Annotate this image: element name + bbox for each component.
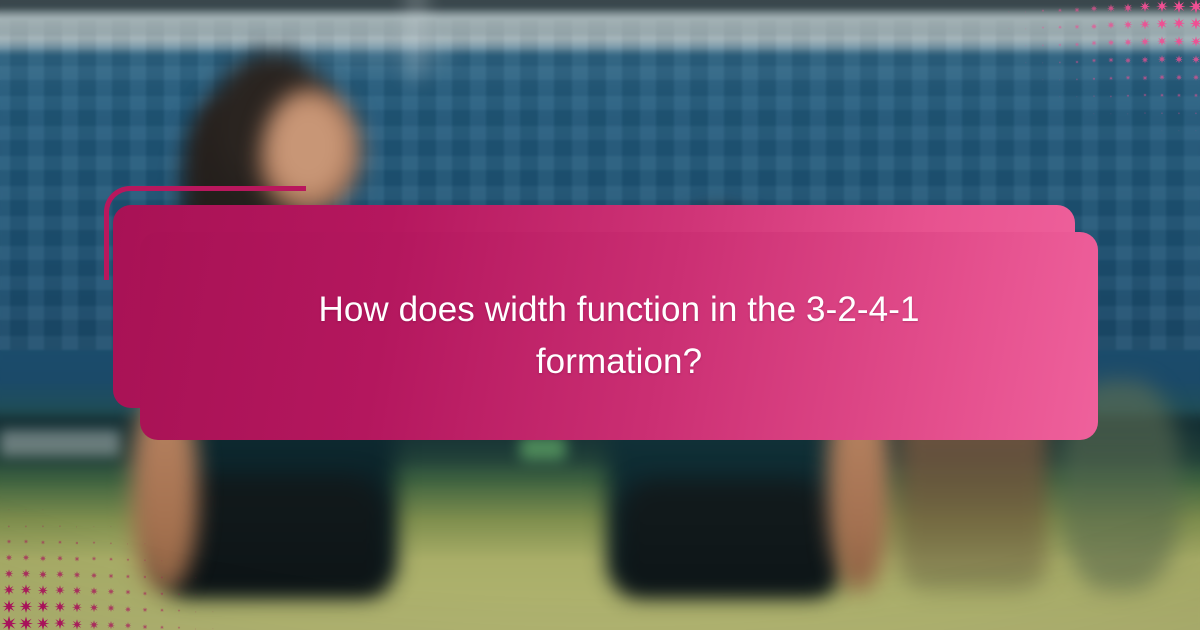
halftone-dot [127, 532, 129, 550]
halftone-dot [72, 583, 81, 601]
halftone-dot [1091, 51, 1096, 69]
halftone-dot [4, 566, 13, 584]
halftone-dot [56, 549, 62, 567]
halftone-dot [108, 549, 112, 567]
halftone-dot [106, 617, 114, 630]
halftone-dot [1193, 85, 1198, 103]
halftone-dot [93, 515, 95, 533]
halftone-dot [1058, 34, 1062, 52]
halftone-dot [1159, 85, 1163, 103]
halftone-dot [1059, 85, 1061, 103]
halftone-dot [1139, 17, 1150, 35]
halftone-dot [1041, 34, 1044, 52]
halftone-dot [39, 549, 46, 567]
banner-canvas: How does width function in the 3-2-4-1 f… [0, 0, 1200, 630]
halftone-dot [1191, 51, 1200, 69]
halftone-dot [1142, 68, 1148, 86]
halftone-dot [177, 617, 180, 630]
halftone-dot [195, 617, 197, 630]
halftone-dot [1090, 34, 1096, 52]
halftone-dot [178, 566, 180, 584]
halftone-dot [1076, 85, 1078, 103]
halftone-dot [110, 515, 112, 533]
halftone-dot [92, 532, 95, 550]
halftone-dot [54, 600, 66, 618]
halftone-dot [142, 617, 148, 630]
halftone-dot [1107, 34, 1114, 52]
halftone-dot [195, 566, 197, 584]
halftone-dot [1057, 0, 1062, 18]
halftone-dot [1189, 17, 1200, 35]
halftone-dot [1195, 119, 1197, 137]
halftone-dot [1175, 68, 1182, 86]
halftone-dot [22, 549, 29, 567]
halftone-dot [1107, 51, 1113, 69]
halftone-dot [1143, 102, 1145, 120]
halftone-dot [1074, 0, 1080, 18]
halftone-dot [1123, 17, 1132, 35]
halftone-dot [1176, 85, 1181, 103]
halftone-dot [1008, 17, 1010, 35]
halftone-dot [1075, 51, 1079, 69]
halftone-dot [54, 583, 64, 601]
halftone-dot [159, 600, 163, 618]
halftone-dot [25, 498, 27, 516]
halftone-dot [37, 583, 48, 601]
halftone-dot [1126, 85, 1130, 103]
halftone-dot [75, 532, 79, 550]
halftone-dot [1157, 51, 1165, 69]
halftone-dot [53, 617, 65, 630]
halftone-dot [1092, 68, 1096, 86]
halftone-dot [89, 617, 99, 630]
halftone-dot [1025, 34, 1027, 52]
halftone-dot [41, 515, 44, 533]
halftone-dot [212, 617, 214, 630]
halftone-dot [1106, 17, 1114, 35]
halftone-dot [177, 600, 180, 618]
halftone-dot [36, 616, 49, 630]
halftone-dot [6, 532, 11, 550]
halftone-dot [90, 566, 97, 584]
halftone-dot [108, 566, 114, 584]
halftone-dot [106, 600, 114, 618]
halftone-dot [1074, 34, 1079, 52]
halftone-dot [1025, 17, 1027, 35]
halftone-dot [91, 549, 96, 567]
halftone-dot [1090, 17, 1097, 35]
halftone-dot [89, 600, 98, 618]
halftone-dot [1174, 51, 1183, 69]
halftone-dot [5, 549, 12, 567]
halftone-dot [20, 583, 31, 601]
halftone-dot [107, 583, 114, 601]
halftone-dot [1172, 17, 1185, 35]
halftone-dot [1042, 51, 1044, 69]
halftone-dot [7, 515, 10, 533]
halftone-dot [126, 549, 130, 567]
halftone-dot [1025, 0, 1027, 18]
halftone-pattern-top-right [1000, 0, 1200, 120]
halftone-dot [1127, 102, 1129, 120]
halftone-dot [71, 617, 82, 630]
halftone-dot [1074, 17, 1080, 35]
halftone-dot [195, 600, 197, 618]
halftone-dot [58, 515, 60, 533]
halftone-dot [1123, 0, 1133, 18]
halftone-dot [1161, 119, 1163, 137]
halftone-dot [1123, 34, 1131, 52]
halftone-dot [1140, 34, 1149, 52]
halftone-dot [76, 515, 78, 533]
halftone-dot [1125, 68, 1130, 86]
halftone-dot [74, 549, 80, 567]
halftone-dot [1155, 0, 1167, 18]
halftone-dot [144, 532, 146, 550]
halftone-dot [40, 532, 45, 550]
halftone-dot [71, 600, 81, 618]
halftone-dot [1158, 68, 1164, 86]
halftone-dot [1142, 85, 1146, 103]
halftone-dot [1, 615, 17, 630]
halftone-dot [159, 617, 164, 630]
halftone-dot [1160, 102, 1162, 120]
halftone-dot [1178, 119, 1180, 137]
halftone-dot [124, 583, 130, 601]
halftone-dot [24, 515, 27, 533]
halftone-dot [73, 566, 81, 584]
halftone-dot [1090, 0, 1097, 18]
halftone-dot [1156, 17, 1168, 35]
halftone-dot [124, 617, 131, 630]
halftone-dot [1075, 68, 1078, 86]
halftone-dot [1139, 0, 1150, 18]
halftone-dot [1058, 51, 1061, 69]
halftone-dot [89, 583, 97, 601]
halftone-dot [21, 566, 30, 584]
halftone-dot [57, 532, 61, 550]
halftone-dot [1093, 102, 1095, 120]
halftone-dot [160, 566, 163, 584]
halftone-dot [55, 566, 63, 584]
halftone-dot [36, 600, 49, 618]
halftone-dot [1172, 0, 1186, 18]
halftone-dot [8, 498, 10, 516]
halftone-dot [195, 583, 197, 601]
halftone-dot [142, 600, 148, 618]
halftone-dot [3, 583, 15, 601]
halftone-dot [1108, 68, 1113, 86]
halftone-dot [1042, 68, 1044, 86]
halftone-dot [143, 566, 147, 584]
page-title: How does width function in the 3-2-4-1 f… [269, 284, 969, 388]
halftone-dot [124, 600, 131, 618]
halftone-dot [178, 549, 180, 567]
halftone-dot [109, 532, 112, 550]
halftone-dot [1194, 102, 1197, 120]
halftone-dot [1156, 34, 1166, 52]
halftone-dot [1041, 17, 1044, 35]
halftone-dot [1057, 17, 1061, 35]
halftone-dot [1141, 51, 1149, 69]
title-card: How does width function in the 3-2-4-1 f… [140, 232, 1098, 440]
halftone-dot [161, 549, 163, 567]
halftone-dot [1109, 85, 1112, 103]
halftone-pattern-bottom-left [0, 498, 220, 630]
halftone-dot [125, 566, 130, 584]
halftone-dot [142, 583, 147, 601]
halftone-dot [42, 498, 44, 516]
halftone-dot [1041, 0, 1044, 18]
halftone-dot [160, 583, 164, 601]
halftone-dot [1124, 51, 1131, 69]
halftone-dot [1106, 0, 1114, 18]
halftone-dot [1025, 51, 1027, 69]
halftone-dot [18, 616, 33, 630]
halftone-dot [1110, 102, 1112, 120]
halftone-dot [143, 549, 146, 567]
halftone-dot [177, 583, 180, 601]
halftone-dot [1177, 102, 1180, 120]
halftone-dot [1173, 34, 1184, 52]
halftone-dot [212, 600, 214, 618]
halftone-dot [1092, 85, 1094, 103]
halftone-dot [1192, 68, 1199, 86]
halftone-dot [1190, 34, 1200, 52]
halftone-dot [23, 532, 28, 550]
halftone-dot [1059, 68, 1061, 86]
halftone-dot [38, 566, 47, 584]
halftone-dot [1008, 0, 1010, 18]
